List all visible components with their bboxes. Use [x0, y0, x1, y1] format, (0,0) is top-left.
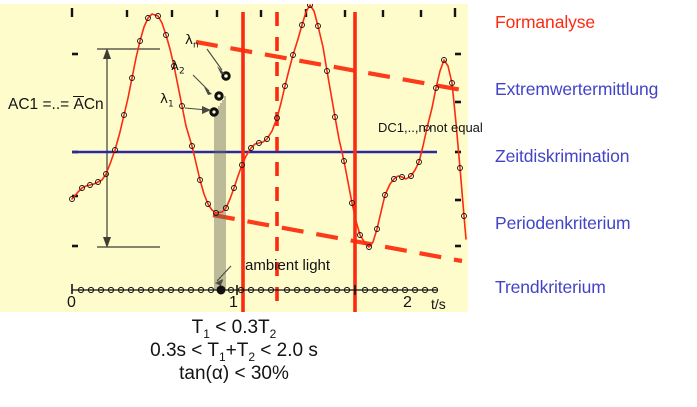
legend-item-formanalyse[interactable]: Formanalyse — [495, 12, 595, 33]
formula-line-2: 0.3s < T1+T2 < 2.0 s — [0, 339, 468, 362]
formula-line-3: tan(α) < 30% — [0, 362, 468, 385]
sampling-hatch-lines — [215, 96, 225, 290]
formula-2-text: 0.3s < T1+T2 < 2.0 s — [150, 340, 318, 361]
dc-inequality-label: DC1,..,n not equal — [378, 120, 483, 135]
xtick-label-1: 1 — [229, 294, 238, 312]
lambda-char-1: λ — [160, 91, 168, 107]
lambda-n-arrowhead — [217, 66, 225, 74]
top-tick-row — [72, 8, 455, 17]
criteria-legend: Formanalyse Extremwertermittlung Zeitdis… — [495, 0, 697, 312]
lambda-leader-arrows — [185, 49, 222, 110]
criteria-formulas: T1 < 0.3T2 0.3s < T1+T2 < 2.0 s tan(α) <… — [0, 316, 468, 385]
lambda-n-label: λn — [185, 32, 199, 48]
formula-3-text: tan(α) < 30% — [179, 363, 289, 384]
ac-label-a: A — [73, 96, 83, 113]
legend-item-zeitdiskrimination[interactable]: Zeitdiskrimination — [495, 146, 629, 167]
lambda-char-2: λ — [171, 58, 179, 74]
legend-item-extremwertermittlung[interactable]: Extremwertermittlung — [495, 79, 658, 100]
lambda-1-label: λ1 — [160, 91, 174, 107]
legend-item-trendkriterium[interactable]: Trendkriterium — [495, 277, 606, 298]
lambda-2-sub: 2 — [179, 67, 185, 77]
ambient-light-label: ambient light — [245, 257, 330, 274]
x-axis-title: t/s — [431, 296, 446, 312]
formula-1-text: T1 < 0.3T2 — [192, 317, 277, 338]
ac-equality-label: AC1 =..= ACn — [8, 96, 104, 114]
ac-label-post: Cn — [84, 96, 104, 113]
slide-root: AC1 =..= ACn DC1,..,n not equal ambient … — [0, 0, 697, 407]
plot-panel: AC1 =..= ACn DC1,..,n not equal ambient … — [0, 4, 468, 312]
ac-arrow-head-bottom — [103, 237, 111, 248]
lambda-n-sub: n — [193, 41, 199, 51]
lambda-1-sub: 1 — [168, 100, 174, 110]
signal-chart-svg — [0, 4, 468, 312]
lambda-sample-points — [210, 72, 230, 116]
lambda-2-arrowhead — [204, 87, 212, 95]
ambient-light-point — [217, 286, 225, 294]
lower-trend-line — [213, 215, 462, 261]
xtick-label-0: 0 — [67, 294, 76, 312]
lambda-char-n: λ — [185, 32, 193, 48]
ac-arrow-head-top — [103, 48, 111, 59]
formula-line-1: T1 < 0.3T2 — [0, 316, 468, 339]
ac-label-pre: AC1 =..= — [8, 96, 73, 113]
left-tick-column — [72, 54, 78, 246]
xtick-label-2: 2 — [403, 294, 412, 312]
lambda-2-label: λ2 — [171, 58, 185, 74]
legend-item-periodenkriterium[interactable]: Periodenkriterium — [495, 213, 630, 234]
ac-amplitude-arrow — [97, 49, 160, 247]
